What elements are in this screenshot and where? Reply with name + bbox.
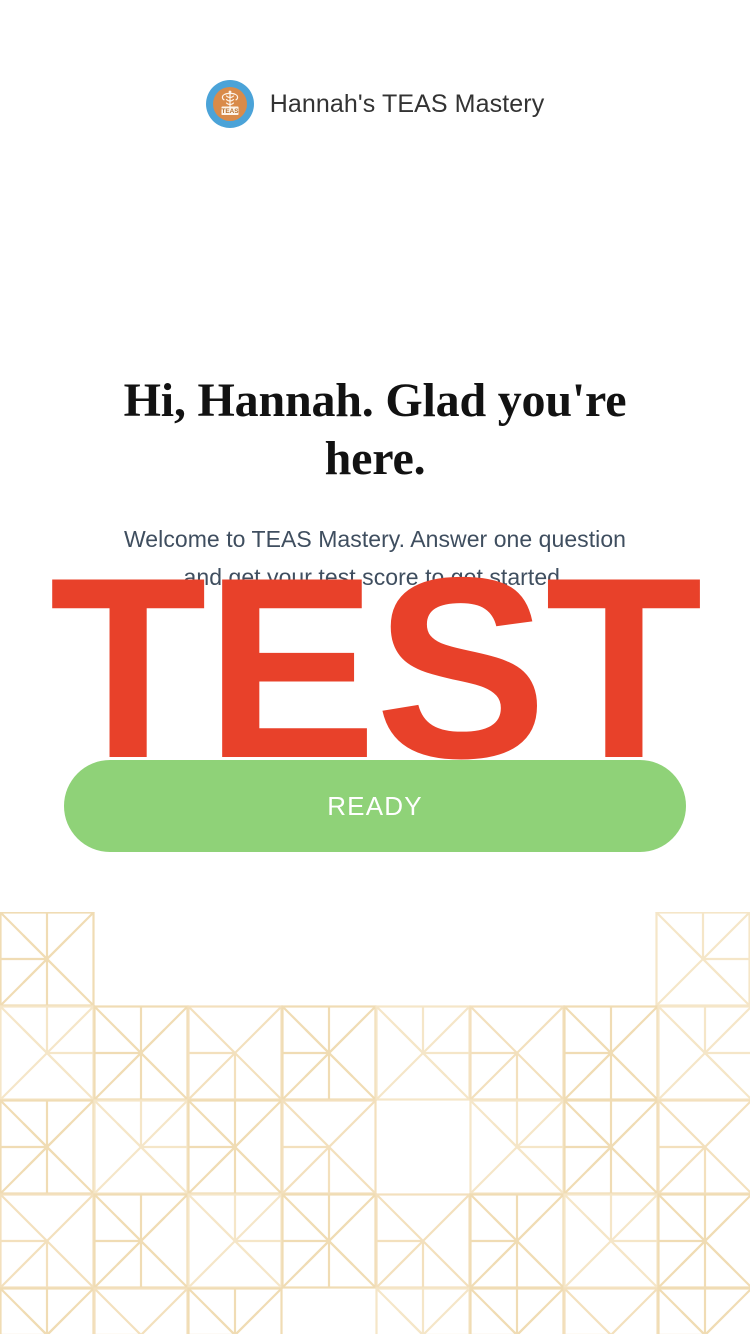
- test-watermark-overlay: TEST: [0, 568, 750, 768]
- brand-title: Hannah's TEAS Mastery: [270, 90, 545, 119]
- page-title: Hi, Hannah. Glad you're here.: [0, 372, 750, 488]
- hero-spacer: [0, 488, 750, 520]
- ready-button[interactable]: READY: [64, 760, 686, 852]
- hero-section: Hi, Hannah. Glad you're here. Welcome to…: [0, 372, 750, 596]
- tangram-grid-pattern: [0, 912, 750, 1334]
- brand-header: TEAS Hannah's TEAS Mastery: [0, 80, 750, 128]
- logo-badge-text: TEAS: [221, 108, 239, 115]
- hero-description: Welcome to TEAS Mastery. Answer one ques…: [0, 520, 750, 596]
- decorative-pattern-band: [0, 912, 750, 1334]
- teas-caduceus-badge-icon: TEAS: [206, 80, 254, 128]
